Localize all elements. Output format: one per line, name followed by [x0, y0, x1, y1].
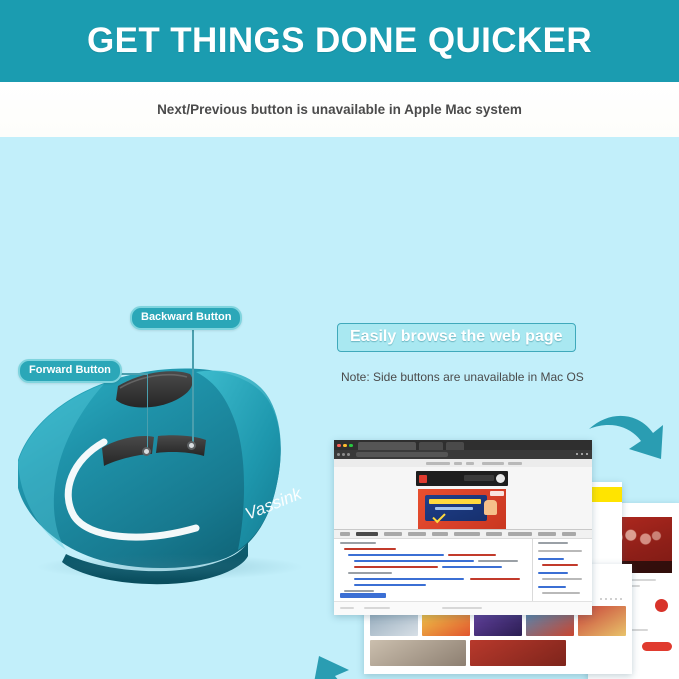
screenshot-front-window — [334, 440, 592, 615]
leader-line-forward-vertical — [147, 373, 149, 451]
infographic-page: GET THINGS DONE QUICKER Next/Previous bu… — [0, 0, 679, 679]
url-input — [356, 452, 448, 457]
devtools-console-footer — [334, 601, 592, 615]
browser-tab — [419, 442, 443, 450]
subtitle-band: Next/Previous button is unavailable in A… — [0, 82, 679, 138]
thumbnail — [470, 640, 566, 666]
backward-button-marker — [187, 441, 196, 450]
highlight-box: Easily browse the web page — [337, 323, 576, 352]
leader-line-backward — [192, 328, 194, 446]
subscribe-button — [642, 642, 672, 651]
site-header-bar — [416, 471, 508, 486]
content-stage: Vassink Backward Button Forward Button E… — [0, 137, 679, 679]
subtitle-text: Next/Previous button is unavailable in A… — [157, 102, 522, 117]
product-image-mouse: Vassink — [0, 342, 340, 642]
highlight-text: Easily browse the web page — [350, 328, 563, 345]
ad-banner — [418, 489, 506, 529]
traffic-lights — [337, 444, 353, 448]
page-title: GET THINGS DONE QUICKER — [87, 21, 592, 61]
devtools-tabbar — [334, 530, 592, 539]
arrow-top-right-icon — [585, 407, 671, 474]
avatar — [496, 474, 505, 483]
thumbnail — [370, 640, 466, 666]
nav-buttons — [337, 453, 350, 456]
thumbnail-row-secondary — [370, 640, 566, 666]
play-badge — [655, 599, 668, 612]
header-band: GET THINGS DONE QUICKER — [0, 0, 679, 82]
browser-tab-active — [358, 442, 416, 450]
page-viewport — [334, 467, 592, 529]
site-logo — [419, 475, 427, 483]
callout-forward-button: Forward Button — [18, 359, 122, 383]
mac-os-note: Note: Side buttons are unavailable in Ma… — [341, 370, 584, 384]
forward-button-marker — [142, 447, 151, 456]
site-search-box — [464, 475, 494, 481]
window-titlebar — [334, 440, 592, 450]
devtools-selected-node — [340, 593, 386, 598]
browser-tab — [446, 442, 464, 450]
devtools-panel — [334, 529, 592, 615]
product-shadow — [35, 554, 305, 580]
browser-urlbar — [334, 450, 592, 459]
callout-backward-button: Backward Button — [130, 306, 242, 330]
mouse-illustration: Vassink — [0, 342, 340, 642]
